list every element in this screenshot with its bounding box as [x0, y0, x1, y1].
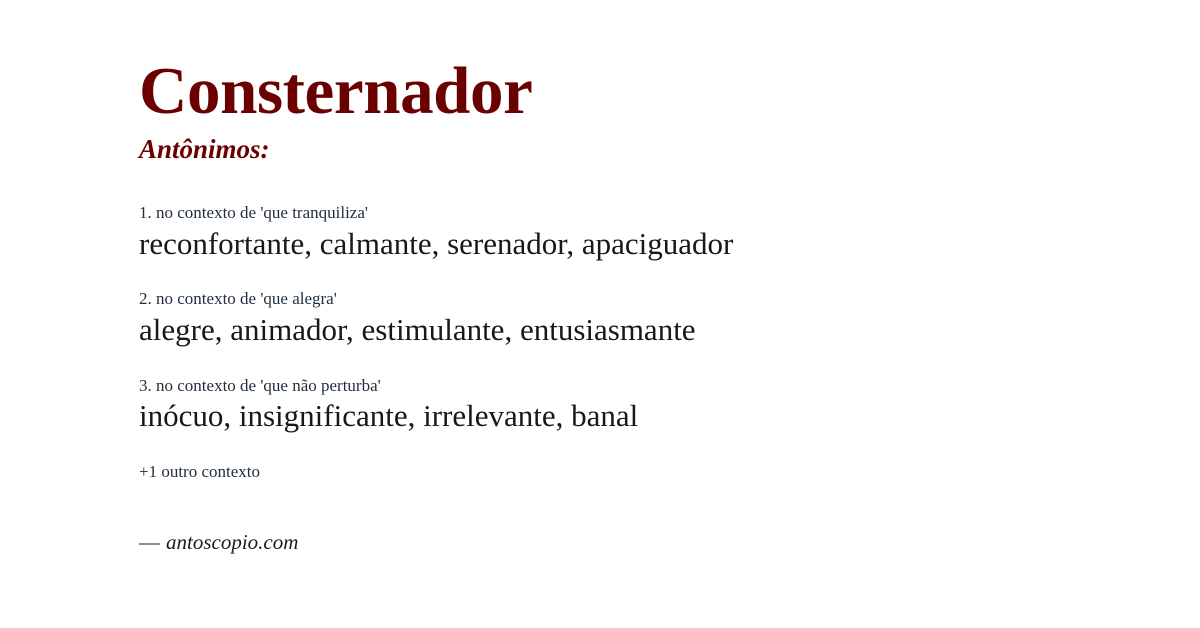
sense-context-label: 3. no contexto de 'que não perturba' — [139, 376, 1200, 396]
sense-block: 3. no contexto de 'que não perturba' inó… — [139, 376, 1200, 435]
sense-antonyms: reconfortante, calmante, serenador, apac… — [139, 225, 1200, 263]
sense-block: 1. no contexto de 'que tranquiliza' reco… — [139, 203, 1200, 262]
source-attribution: —antoscopio.com — [139, 531, 1200, 554]
source-name: antoscopio.com — [166, 530, 298, 554]
more-contexts-note: +1 outro contexto — [139, 462, 1200, 482]
section-subtitle: Antônimos: — [139, 136, 1200, 163]
page-title: Consternador — [139, 58, 1200, 125]
sense-antonyms: inócuo, insignificante, irrelevante, ban… — [139, 397, 1200, 435]
sense-context-label: 1. no contexto de 'que tranquiliza' — [139, 203, 1200, 223]
sense-antonyms: alegre, animador, estimulante, entusiasm… — [139, 311, 1200, 349]
sense-list: 1. no contexto de 'que tranquiliza' reco… — [139, 203, 1200, 435]
card-header: Consternador Antônimos: — [139, 0, 1200, 163]
em-dash-icon: — — [139, 530, 166, 554]
sense-block: 2. no contexto de 'que alegra' alegre, a… — [139, 289, 1200, 348]
antonyms-card: Consternador Antônimos: 1. no contexto d… — [0, 0, 1200, 628]
sense-context-label: 2. no contexto de 'que alegra' — [139, 289, 1200, 309]
